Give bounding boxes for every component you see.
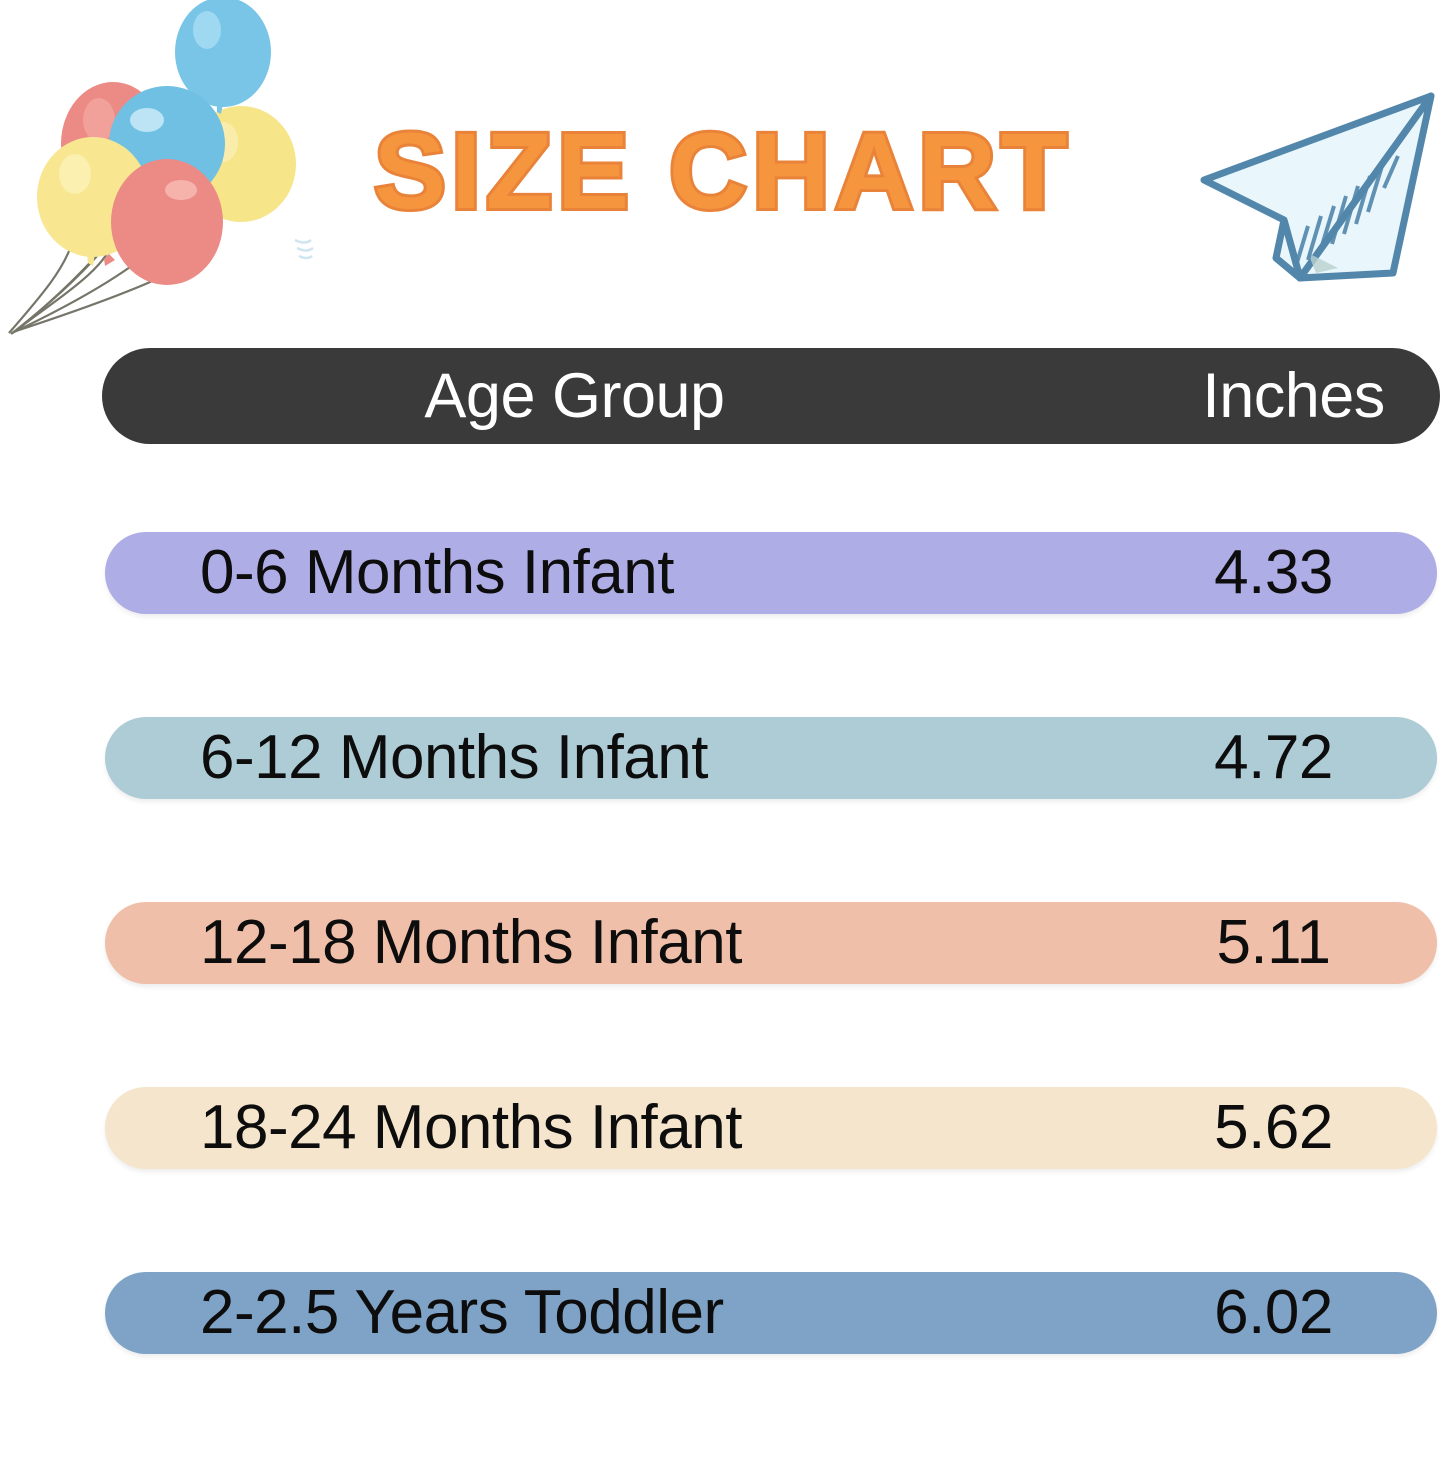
column-header-inches: Inches bbox=[1167, 365, 1440, 428]
table-row[interactable]: 0-6 Months Infant 4.33 bbox=[105, 532, 1437, 614]
cell-inches: 6.02 bbox=[1145, 1282, 1437, 1344]
cell-age-group: 18-24 Months Infant bbox=[105, 1097, 1145, 1159]
cell-inches: 5.62 bbox=[1145, 1097, 1437, 1159]
cell-inches: 5.11 bbox=[1145, 912, 1437, 974]
cell-age-group: 0-6 Months Infant bbox=[105, 542, 1145, 604]
cell-inches: 4.72 bbox=[1145, 727, 1437, 789]
table-row[interactable]: 12-18 Months Infant 5.11 bbox=[105, 902, 1437, 984]
table-row[interactable]: 6-12 Months Infant 4.72 bbox=[105, 717, 1437, 799]
cell-age-group: 12-18 Months Infant bbox=[105, 912, 1145, 974]
table-row[interactable]: 2-2.5 Years Toddler 6.02 bbox=[105, 1272, 1437, 1354]
cell-age-group: 2-2.5 Years Toddler bbox=[105, 1282, 1145, 1344]
page-title-text: SIZE CHART bbox=[374, 110, 1072, 231]
column-header-age-group: Age Group bbox=[102, 365, 1167, 428]
table-header-row: Age Group Inches bbox=[102, 348, 1440, 444]
decorative-header: SIZE CHART bbox=[0, 0, 1445, 340]
size-chart-table: Age Group Inches 0-6 Months Infant 4.33 … bbox=[0, 348, 1445, 1457]
paper-airplane-icon bbox=[1188, 68, 1445, 303]
page-title-art: SIZE CHART bbox=[343, 108, 1103, 238]
cell-age-group: 6-12 Months Infant bbox=[105, 727, 1145, 789]
table-row[interactable]: 18-24 Months Infant 5.62 bbox=[105, 1087, 1437, 1169]
cell-inches: 4.33 bbox=[1145, 542, 1437, 604]
balloon-cluster-icon bbox=[0, 0, 335, 337]
